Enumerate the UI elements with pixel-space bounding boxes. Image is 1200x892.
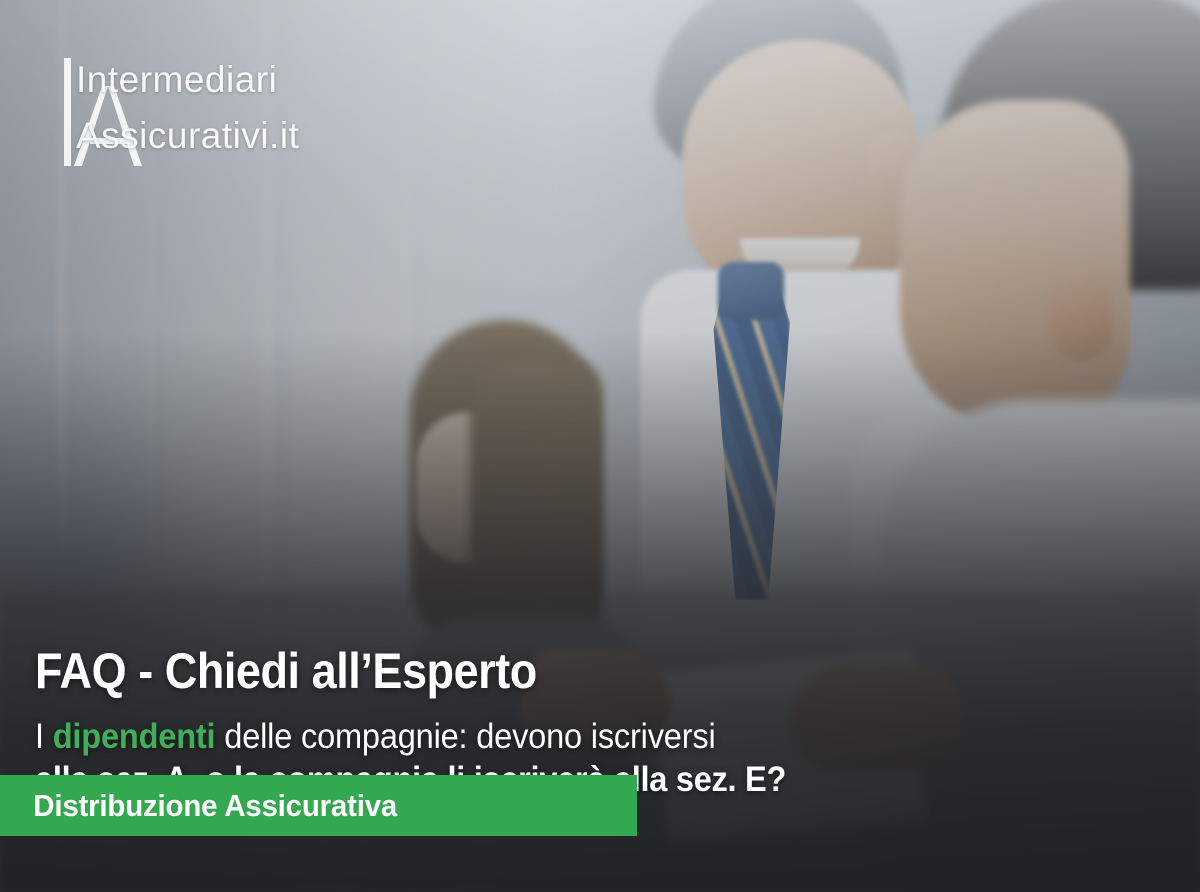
question-highlight: dipendenti — [53, 717, 216, 756]
question-line-1: I dipendenti delle compagnie: devono isc… — [35, 718, 1109, 755]
question-prefix: I — [35, 717, 53, 756]
category-label: Distribuzione Assicurativa — [0, 788, 397, 824]
page-title: FAQ - Chiedi all’Esperto — [35, 646, 1075, 696]
question-suffix: delle compagnie: devono iscriversi — [215, 717, 715, 756]
faq-hero-banner: Intermediari Assicurativi.it FAQ - Chied… — [0, 0, 1200, 892]
logo-line-1: Intermediari — [76, 59, 277, 100]
logo-line-2: Assicurativi.it — [76, 108, 299, 164]
category-badge[interactable]: Distribuzione Assicurativa — [0, 775, 637, 836]
brand-logo[interactable]: Intermediari Assicurativi.it — [58, 52, 388, 172]
logo-wordmark: Intermediari Assicurativi.it — [76, 52, 299, 164]
